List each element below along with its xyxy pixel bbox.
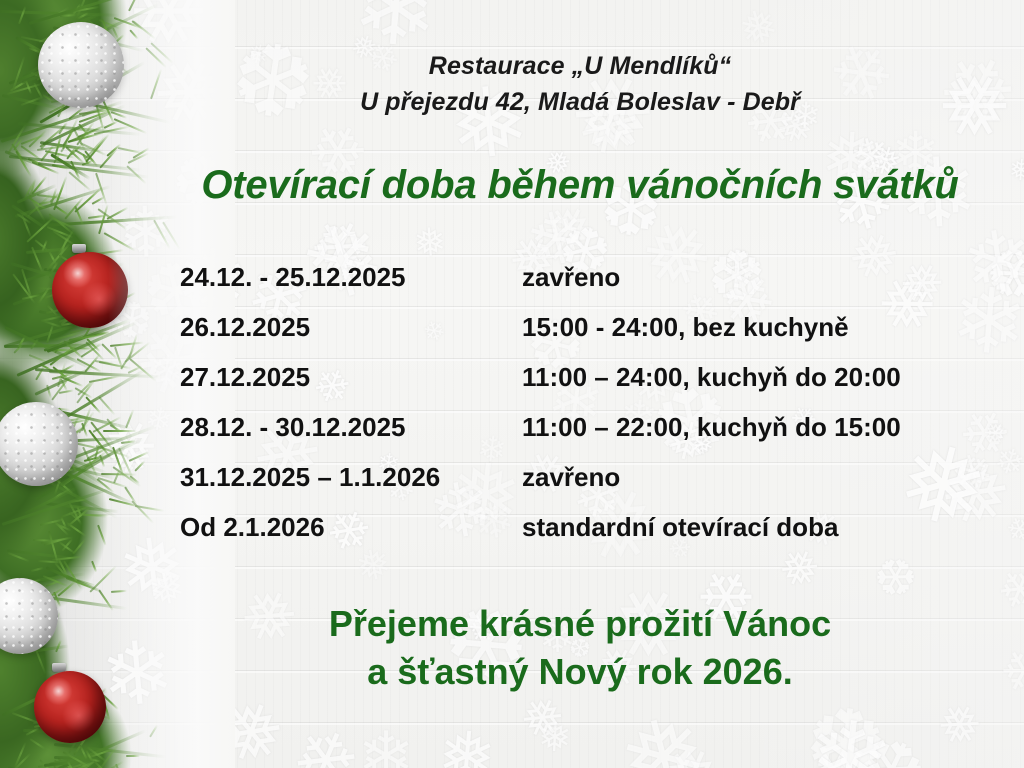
hours-row: 24.12. - 25.12.2025zavřeno (180, 262, 1000, 312)
christmas-opening-hours-poster: ❄❅❄❅❄❅❅❅❅❄❅❅❅❅❄❆❆❅❄❅❅❄❆❄❄❄❅❅❅❄❄❄❄❅❅❅❄❅❄❅… (0, 0, 1024, 768)
hours-date-cell: 31.12.2025 – 1.1.2026 (180, 462, 522, 493)
greeting-line-2: a šťastný Nový rok 2026. (100, 648, 1024, 696)
hours-row: 31.12.2025 – 1.1.2026zavřeno (180, 462, 1000, 512)
hours-date-cell: 27.12.2025 (180, 362, 522, 393)
hours-row: 26.12.202515:00 - 24:00, bez kuchyně (180, 312, 1000, 362)
hours-date-cell: Od 2.1.2026 (180, 512, 522, 543)
greeting-line-1: Přejeme krásné prožití Vánoc (100, 600, 1024, 648)
poster-content: Restaurace „U Mendlíků“ U přejezdu 42, M… (0, 0, 1024, 768)
hours-row: 27.12.202511:00 – 24:00, kuchyň do 20:00 (180, 362, 1000, 412)
holiday-greeting: Přejeme krásné prožití Vánoc a šťastný N… (100, 600, 1024, 696)
restaurant-header: Restaurace „U Mendlíků“ U přejezdu 42, M… (180, 48, 980, 120)
hours-time-cell: 11:00 – 22:00, kuchyň do 15:00 (522, 412, 901, 443)
hours-date-cell: 24.12. - 25.12.2025 (180, 262, 522, 293)
page-title: Otevírací doba během vánočních svátků (100, 160, 1024, 210)
hours-time-cell: standardní otevírací doba (522, 512, 838, 543)
restaurant-name: Restaurace „U Mendlíků“ (180, 48, 980, 84)
hours-time-cell: 11:00 – 24:00, kuchyň do 20:00 (522, 362, 901, 393)
opening-hours-table: 24.12. - 25.12.2025zavřeno26.12.202515:0… (180, 262, 1000, 562)
hours-time-cell: zavřeno (522, 262, 620, 293)
hours-time-cell: 15:00 - 24:00, bez kuchyně (522, 312, 849, 343)
hours-row: 28.12. - 30.12.202511:00 – 22:00, kuchyň… (180, 412, 1000, 462)
hours-date-cell: 26.12.2025 (180, 312, 522, 343)
hours-time-cell: zavřeno (522, 462, 620, 493)
hours-row: Od 2.1.2026standardní otevírací doba (180, 512, 1000, 562)
hours-date-cell: 28.12. - 30.12.2025 (180, 412, 522, 443)
restaurant-address: U přejezdu 42, Mladá Boleslav - Debř (180, 84, 980, 120)
